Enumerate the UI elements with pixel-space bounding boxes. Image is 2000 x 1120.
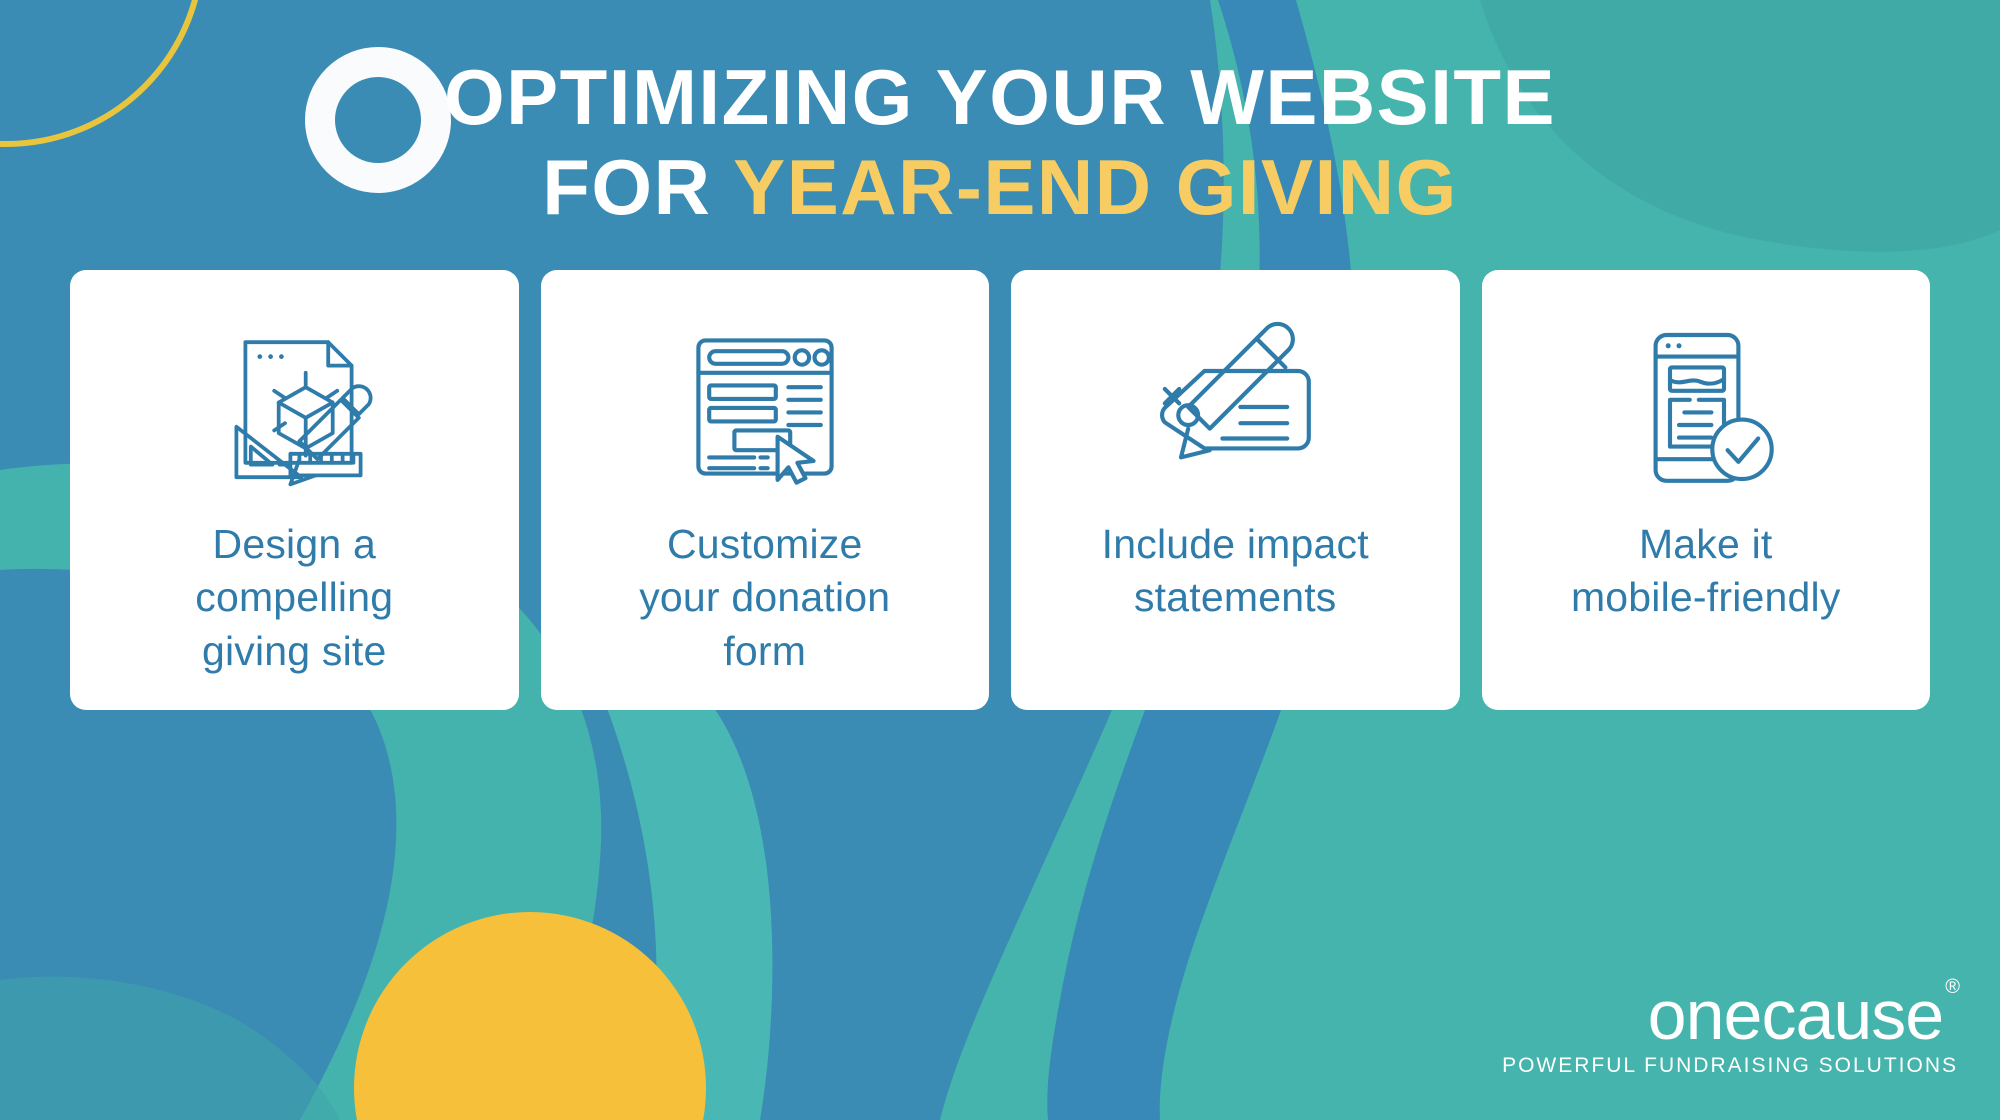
onecause-logo: onecause® POWERFUL FUNDRAISING SOLUTIONS [1502,980,1958,1076]
card-label-line-1: Customize [667,521,862,567]
card-label-line-2: mobile-friendly [1571,574,1841,620]
title-highlight: YEAR-END GIVING [733,143,1458,231]
card-label-line-3: giving site [202,628,387,674]
title-block: OPTIMIZING YOUR WEBSITE FOR YEAR-END GIV… [0,52,2000,233]
card-label-line-1: Design a [213,521,376,567]
card-label-line-2: your donation [639,574,890,620]
card-include-impact-statements[interactable]: Include impact statements [1011,270,1460,710]
card-customize-donation-form[interactable]: Customize your donation form [541,270,990,710]
card-design-giving-site[interactable]: Design a compelling giving site [70,270,519,710]
browser-donation-form-icon [670,312,860,502]
card-label: Make it mobile-friendly [1553,518,1859,625]
card-label-line-2: compelling [195,574,393,620]
logo-wordmark: onecause® [1648,980,1958,1050]
cards-row: Design a compelling giving site [70,270,1930,710]
card-label-line-1: Include impact [1102,521,1369,567]
infographic-canvas: OPTIMIZING YOUR WEBSITE FOR YEAR-END GIV… [0,0,2000,1120]
card-label: Design a compelling giving site [177,518,411,678]
card-make-mobile-friendly[interactable]: Make it mobile-friendly [1482,270,1931,710]
card-label: Customize your donation form [621,518,908,678]
card-label-line-3: form [723,628,806,674]
logo-tagline: POWERFUL FUNDRAISING SOLUTIONS [1502,1055,1958,1076]
blueprint-design-icon [199,312,389,502]
tag-pencil-impact-icon [1140,312,1330,502]
card-label-line-1: Make it [1639,521,1773,567]
title-line-2-prefix: FOR [542,143,733,231]
registered-trademark-icon: ® [1945,976,1960,998]
card-label: Include impact statements [1084,518,1387,625]
logo-wordmark-text: onecause [1648,976,1944,1054]
mobile-check-icon [1611,312,1801,502]
title-line-1: OPTIMIZING YOUR WEBSITE [0,52,2000,142]
title-line-2: FOR YEAR-END GIVING [0,142,2000,232]
card-label-line-2: statements [1134,574,1337,620]
